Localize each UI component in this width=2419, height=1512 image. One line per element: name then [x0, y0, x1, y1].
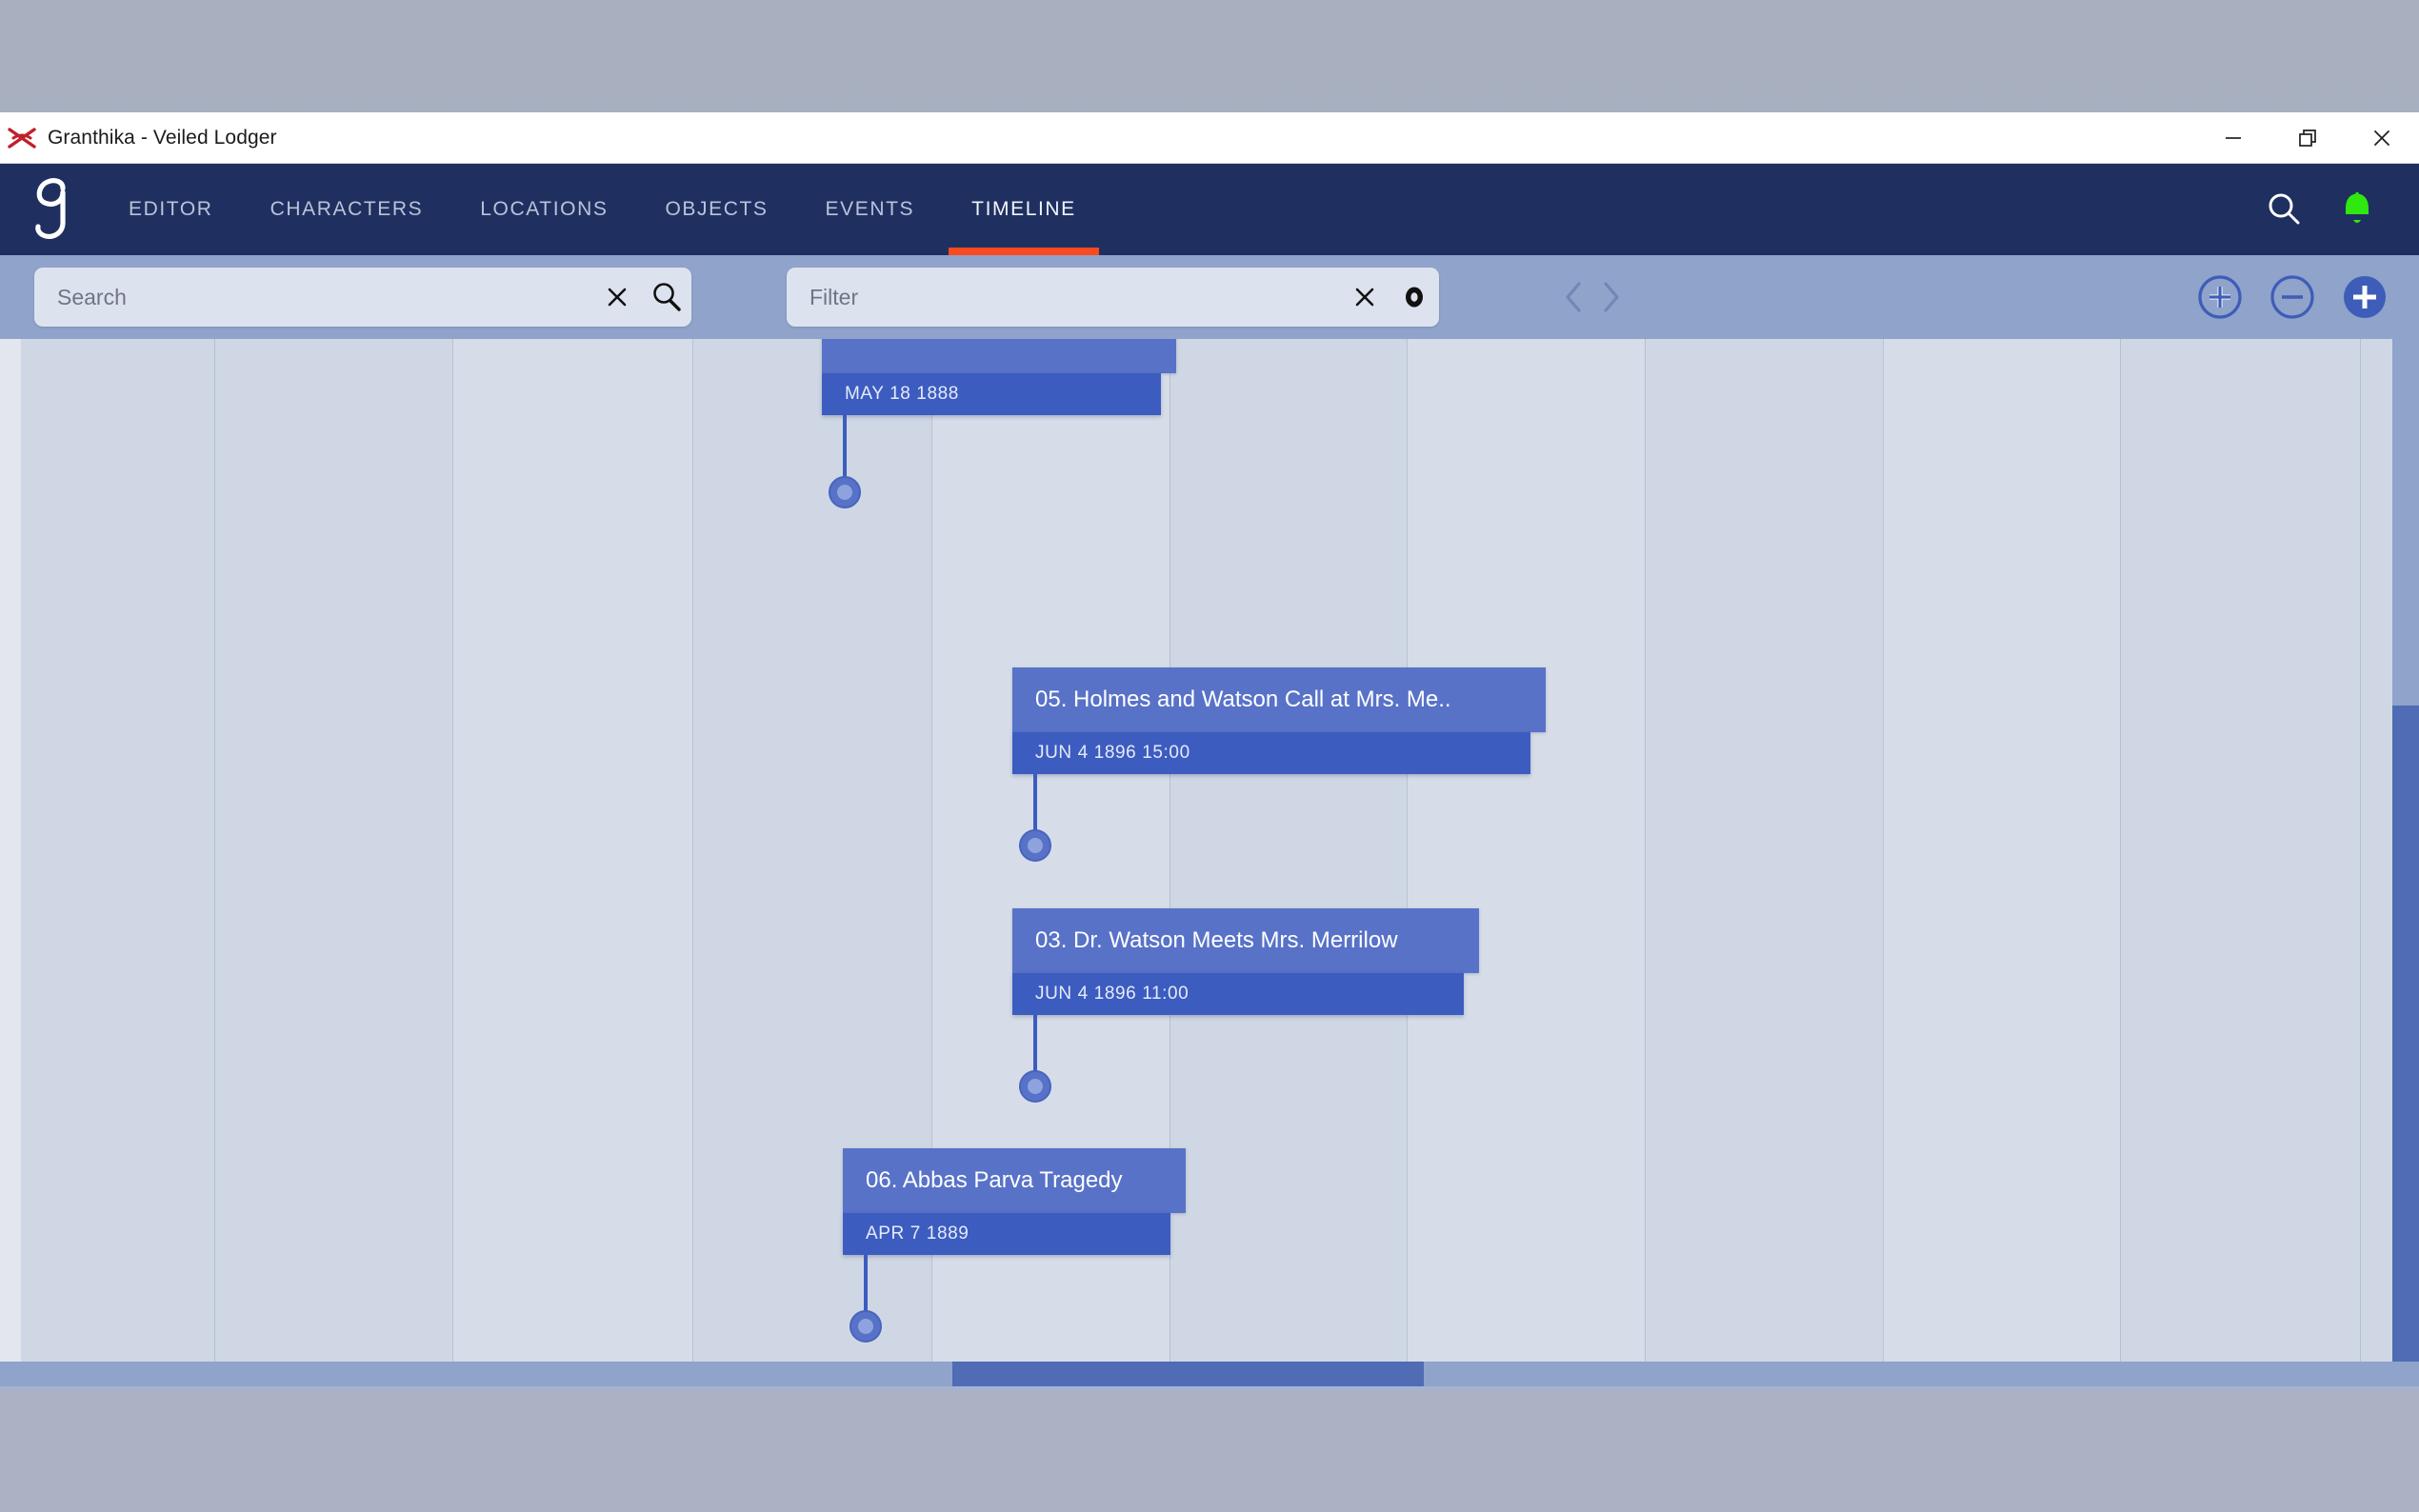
granthika-g-logo-icon[interactable] [0, 164, 100, 255]
filter-input-placeholder: Filter [787, 285, 1340, 310]
timeline-event-date: JUN 4 1896 11:00 [1012, 973, 1464, 1015]
eye-icon[interactable] [1389, 268, 1439, 327]
nav-item-events[interactable]: EVENTS [797, 164, 944, 255]
timeline-event-card[interactable]: 03. Dr. Watson Meets Mrs. MerrilowJUN 4 … [1012, 908, 1479, 1015]
search-input-placeholder: Search [34, 285, 592, 310]
timeline-event-connector [1033, 1015, 1037, 1074]
main-navigation-bar: EDITOR CHARACTERS LOCATIONS OBJECTS EVEN… [0, 164, 2419, 255]
timeline-event-title[interactable] [822, 339, 1176, 373]
timeline-event-date: MAY 18 1888 [822, 373, 1161, 415]
timeline-event-connector [864, 1255, 868, 1314]
timeline-event-date: JUN 4 1896 15:00 [1012, 732, 1530, 774]
search-submit-icon[interactable] [642, 268, 691, 327]
timeline-step-arrows [1558, 276, 1627, 318]
timeline-event-connector [843, 415, 847, 480]
search-input[interactable]: Search [34, 268, 691, 327]
timeline-event-card[interactable]: 06. Abbas Parva TragedyAPR 7 1889 [843, 1148, 1186, 1255]
filter-input[interactable]: Filter [787, 268, 1439, 327]
vertical-scrollbar[interactable] [2392, 339, 2419, 1386]
clear-x-icon[interactable] [1340, 268, 1389, 327]
gridline-1880 [692, 339, 693, 1386]
nav-item-editor[interactable]: EDITOR [100, 164, 242, 255]
gridline-1930 [1883, 339, 1884, 1386]
gridline-1910 [1407, 339, 1408, 1386]
notification-bell-icon[interactable] [2337, 189, 2377, 230]
chevron-right-icon[interactable] [1594, 276, 1627, 318]
gridline-1870 [452, 339, 453, 1386]
nav-spacer [1105, 164, 2263, 255]
timeline-event-date: APR 7 1889 [843, 1213, 1170, 1255]
nav-item-objects[interactable]: OBJECTS [636, 164, 796, 255]
timeline-canvas[interactable]: MAY 18 188805. Holmes and Watson Call at… [0, 339, 2419, 1386]
column-band [1883, 339, 2120, 1386]
granthika-x-logo-icon [6, 124, 38, 152]
application-window: Granthika - Veiled Lodger EDITOR CHARACT… [0, 112, 2419, 1502]
timeline-event-connector [1033, 774, 1037, 833]
timeline-event-dot[interactable] [829, 476, 861, 508]
close-icon[interactable] [2345, 112, 2419, 164]
minimize-icon[interactable] [2196, 112, 2270, 164]
gridline-1860 [214, 339, 215, 1386]
timeline-event-card[interactable]: 05. Holmes and Watson Call at Mrs. Me..J… [1012, 667, 1546, 774]
timeline-event-dot[interactable] [850, 1310, 882, 1343]
nav-items: EDITOR CHARACTERS LOCATIONS OBJECTS EVEN… [100, 164, 1105, 255]
column-band [452, 339, 692, 1386]
horizontal-scrollbar[interactable] [0, 1362, 2419, 1386]
column-band [1407, 339, 1645, 1386]
timeline-event-title[interactable]: 06. Abbas Parva Tragedy [843, 1148, 1186, 1213]
vertical-scrollbar-thumb[interactable] [2392, 706, 2419, 1386]
nav-actions [2263, 164, 2419, 255]
chevron-left-icon[interactable] [1558, 276, 1590, 318]
gridline-1950 [2360, 339, 2361, 1386]
timeline-event-title[interactable]: 05. Holmes and Watson Call at Mrs. Me.. [1012, 667, 1546, 732]
timeline-event-dot[interactable] [1019, 1070, 1051, 1103]
nav-item-characters[interactable]: CHARACTERS [242, 164, 452, 255]
add-plus-button[interactable] [2339, 271, 2390, 323]
window-titlebar: Granthika - Veiled Lodger [0, 112, 2419, 164]
timeline-event-dot[interactable] [1019, 829, 1051, 862]
nav-item-locations[interactable]: LOCATIONS [451, 164, 636, 255]
restore-icon[interactable] [2270, 112, 2345, 164]
nav-item-timeline[interactable]: TIMELINE [943, 164, 1105, 255]
clear-x-icon[interactable] [592, 268, 642, 327]
gridline-1920 [1645, 339, 1646, 1386]
timeline-event-card[interactable]: MAY 18 1888 [822, 339, 1176, 415]
timeline-event-title[interactable]: 03. Dr. Watson Meets Mrs. Merrilow [1012, 908, 1479, 973]
toolbar-right-actions [2194, 271, 2419, 323]
search-icon[interactable] [2263, 189, 2305, 230]
window-title: Granthika - Veiled Lodger [48, 127, 277, 149]
zoom-out-circle-icon[interactable] [2267, 271, 2318, 323]
timeline-left-margin [0, 339, 21, 1386]
gridline-1940 [2120, 339, 2121, 1386]
zoom-in-circle-icon[interactable] [2194, 271, 2246, 323]
timeline-toolbar: Search Filter [0, 255, 2419, 339]
horizontal-scrollbar-thumb[interactable] [952, 1362, 1424, 1386]
window-footer-area [0, 1390, 2419, 1512]
